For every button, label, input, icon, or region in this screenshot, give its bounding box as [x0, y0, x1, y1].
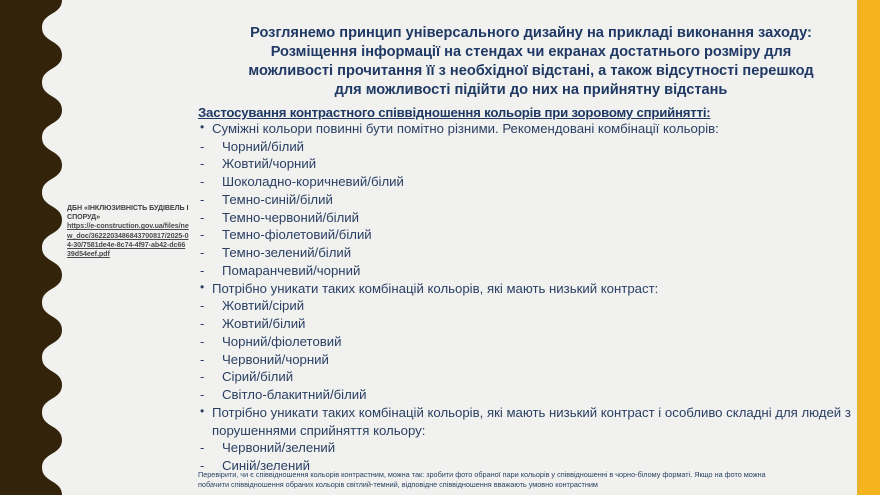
list-item-dash: Шоколадно-коричневий/білий	[196, 173, 880, 191]
color-combination-list: Суміжні кольори повинні бути помітно різ…	[196, 120, 880, 475]
list-item-dash: Жовтий/чорний	[196, 155, 880, 173]
section-subtitle: Застосування контрастного співвідношення…	[196, 105, 880, 120]
title-line-2: Розміщення інформації на стендах чи екра…	[218, 43, 844, 62]
list-item-bullet: Суміжні кольори повинні бути помітно різ…	[196, 120, 880, 138]
source-reference-note: ДБН «ІНКЛЮЗИВНІСТЬ БУДІВЕЛЬ І СПОРУД» ht…	[67, 204, 189, 259]
list-item-dash: Жовтий/сірий	[196, 297, 880, 315]
document-link[interactable]: https://e-construction.gov.ua/files/new_…	[67, 222, 189, 259]
footer-line-2: побачити співвідношення обраних кольорів…	[198, 480, 870, 490]
list-item-dash: Жовтий/білий	[196, 315, 880, 333]
footer-line-1: Перевірити, чи є співвідношення кольорів…	[198, 470, 870, 480]
document-title: ДБН «ІНКЛЮЗИВНІСТЬ БУДІВЕЛЬ І СПОРУД»	[67, 204, 189, 222]
right-accent-bar	[860, 0, 880, 495]
list-item-dash: Світло-блакитний/білий	[196, 386, 880, 404]
slide-content: Розглянемо принцип універсального дизайн…	[196, 0, 880, 495]
list-item-bullet: Потрібно уникати таких комбінацій кольор…	[196, 280, 880, 298]
decorative-scalloped-border	[0, 0, 70, 495]
list-item-dash: Темно-зелений/білий	[196, 244, 880, 262]
list-item-dash: Сірий/білий	[196, 368, 880, 386]
list-item-dash: Помаранчевий/чорний	[196, 262, 880, 280]
list-item-continuation: порушеннями сприйняття кольору:	[196, 422, 880, 440]
list-item-dash: Червоний/зелений	[196, 439, 880, 457]
list-item-dash: Червоний/чорний	[196, 351, 880, 369]
slide-canvas: Розглянемо принцип універсального дизайн…	[0, 0, 880, 495]
list-item-dash: Темно-червоний/білий	[196, 209, 880, 227]
list-item-dash: Темно-синій/білий	[196, 191, 880, 209]
list-item-dash: Чорний/фіолетовий	[196, 333, 880, 351]
title-line-1: Розглянемо принцип універсального дизайн…	[218, 24, 844, 43]
title-line-4: для можливості підійти до них на прийнят…	[218, 81, 844, 100]
title-line-3: можливості прочитання її з необхідної ві…	[218, 62, 844, 81]
list-item-dash: Темно-фіолетовий/білий	[196, 226, 880, 244]
list-item-dash: Чорний/білий	[196, 138, 880, 156]
page-title: Розглянемо принцип універсального дизайн…	[196, 0, 880, 100]
footer-note: Перевірити, чи є співвідношення кольорів…	[198, 470, 870, 490]
list-item-bullet: Потрібно уникати таких комбінацій кольор…	[196, 404, 880, 422]
